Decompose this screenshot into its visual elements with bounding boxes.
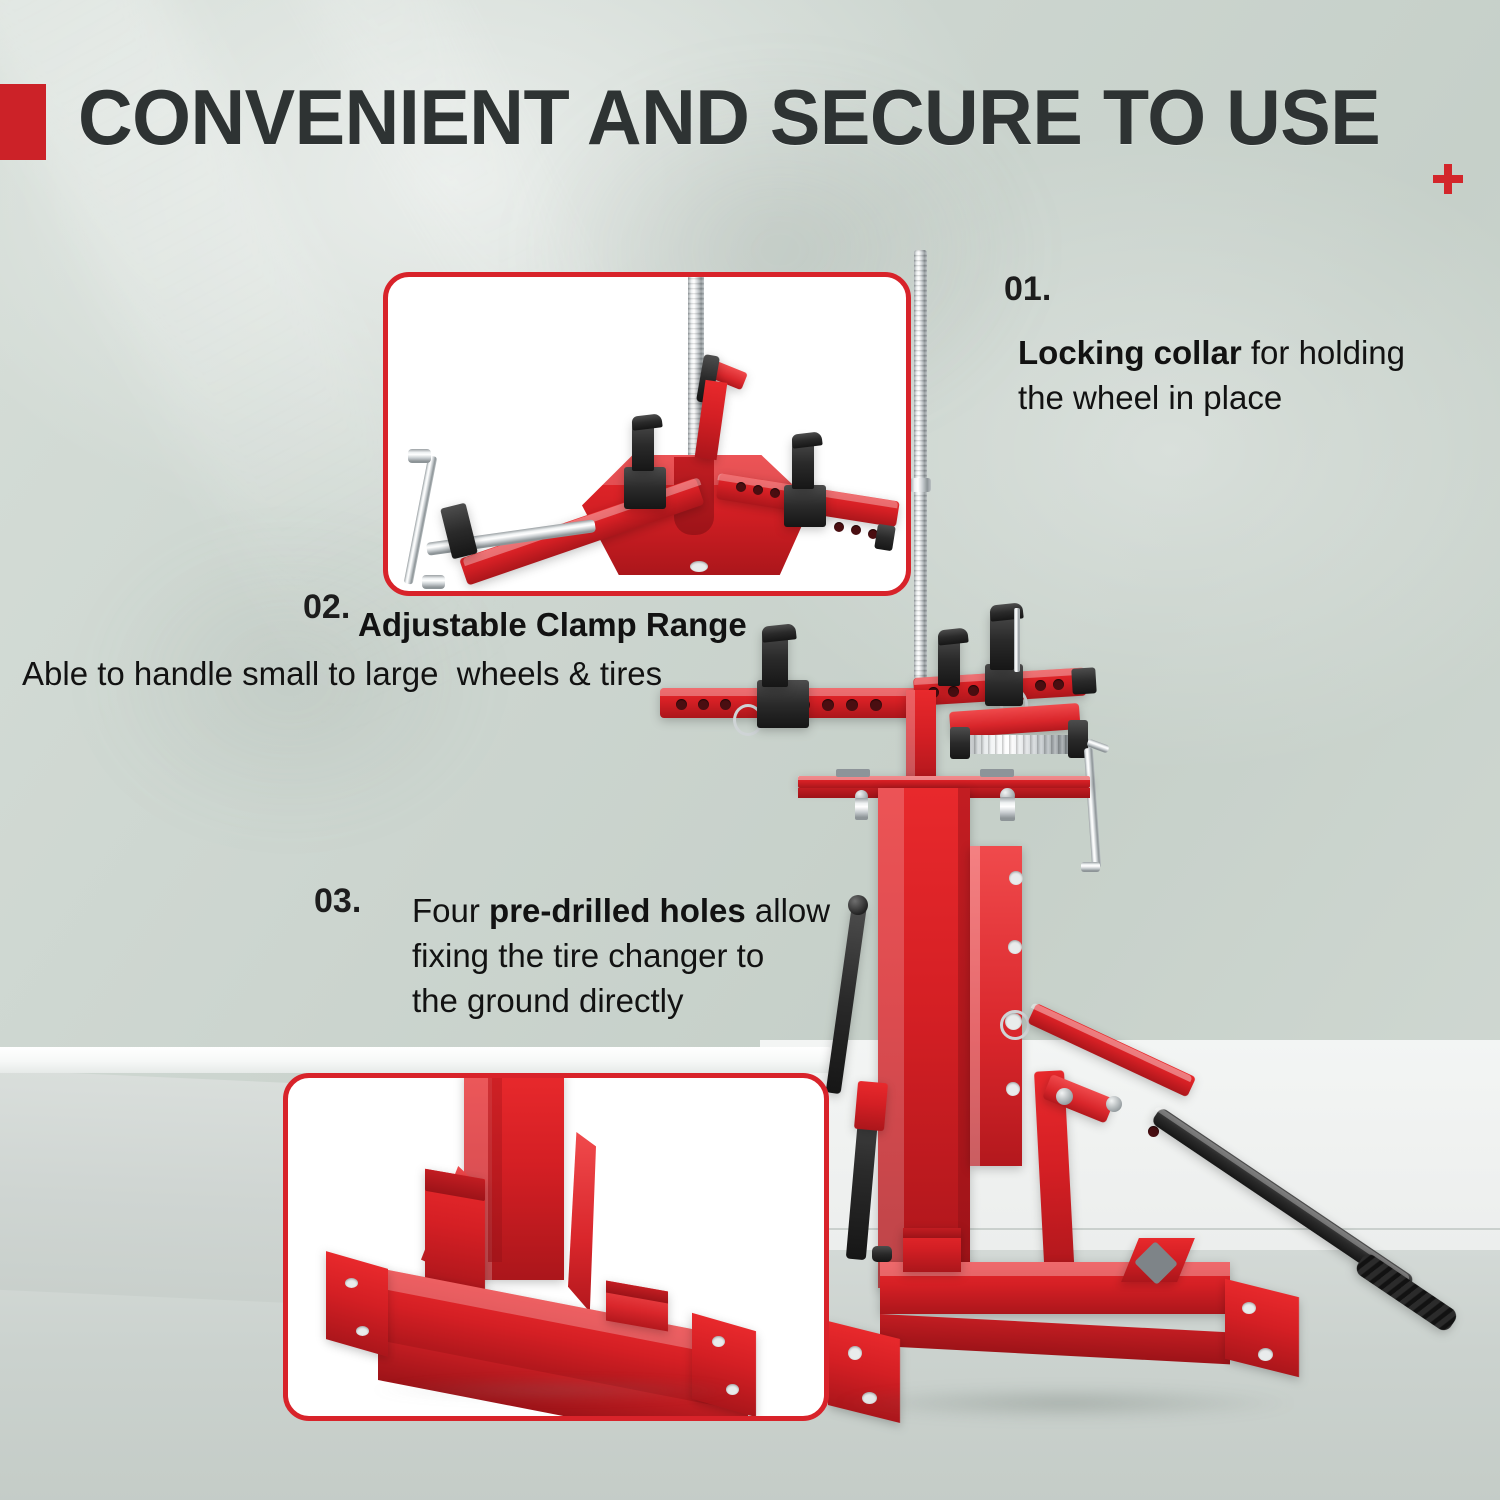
clamp-hole — [698, 699, 709, 710]
inset-mount-tab-right — [692, 1313, 756, 1417]
base-mount-hole — [1258, 1348, 1273, 1361]
clamp-hook-inner-tip — [937, 627, 968, 645]
callout-03-text: Four pre-drilled holes allow fixing the … — [412, 888, 862, 1023]
plus-marker-icon — [1433, 164, 1463, 194]
callout-01-text: Locking collar for holding the wheel in … — [1018, 330, 1448, 420]
title-accent-square — [0, 84, 46, 160]
callout-02-heading: Adjustable Clamp Range — [358, 604, 747, 646]
main-column-shadow — [958, 788, 970, 1288]
callout-01-number-label: 01. — [1004, 270, 1051, 308]
clamp-arm-right-end-cap — [1071, 667, 1097, 694]
callout-03-line3: the ground directly — [412, 982, 684, 1019]
inset-mount-hole — [345, 1278, 358, 1288]
inset-mount-hole — [356, 1326, 369, 1336]
callout-02-number-label: 02. — [303, 588, 350, 626]
inset-clamp-hole — [736, 482, 746, 492]
callout-03-number-label: 03. — [314, 882, 361, 920]
pre-drilled-hole — [1006, 1082, 1020, 1096]
callout-03-post: allow — [746, 892, 830, 929]
pre-drilled-plate-highlight — [970, 846, 980, 1166]
inset-adjust-screw-head — [408, 449, 431, 463]
mast-highlight — [906, 690, 915, 790]
inset-mount-tab-left — [326, 1251, 388, 1357]
inset-clamp-hole — [770, 488, 780, 498]
plate-lock-ring — [1000, 1010, 1030, 1040]
linkage-hole — [1148, 1126, 1159, 1137]
page-title: CONVENIENT AND SECURE TO USE — [78, 74, 1397, 160]
inset-clamp-arm-detail — [383, 272, 911, 596]
pre-drilled-hole — [1008, 940, 1022, 954]
inset-clamp-hole — [851, 525, 861, 535]
rod-thread-texture — [914, 250, 927, 680]
inset-ground-shadow — [368, 1378, 748, 1402]
inset-hook-left-tip — [631, 413, 662, 431]
callout-03-line2: fixing the tire changer to — [412, 937, 764, 974]
clamp-hook-right-rod — [1014, 608, 1020, 672]
clamp-hole — [822, 699, 834, 711]
infographic-stage: CONVENIENT AND SECURE TO USE — [0, 0, 1500, 1500]
inset-jaw-block-left — [624, 467, 666, 509]
inset-plate-hole — [690, 561, 708, 572]
callout-02-number: 02. — [303, 590, 350, 624]
pre-drilled-hole — [1009, 871, 1023, 885]
clamp-hole — [1035, 680, 1046, 691]
callout-03-pre: Four — [412, 892, 489, 929]
clamp-hole — [870, 699, 882, 711]
inset-arm-right-cap — [874, 524, 896, 552]
inset-clamp-hole — [834, 522, 844, 532]
table-plate-bolt-shaft — [855, 798, 868, 820]
base-socket-opening — [903, 1228, 961, 1238]
clamp-hole — [720, 699, 731, 710]
clamp-hole — [968, 685, 979, 696]
callout-01-number: 01. — [1004, 272, 1051, 306]
callout-03-bold: pre-drilled holes — [489, 892, 746, 929]
clamp-jaw-block-left — [757, 680, 809, 728]
clamp-hole — [676, 699, 687, 710]
rod-collar-step — [910, 478, 931, 492]
inset-hook-right-tip — [791, 431, 822, 449]
inset-gusset-right — [568, 1132, 596, 1312]
callout-01-heading: Locking collar — [1018, 334, 1242, 371]
gas-strut-red-collar — [854, 1081, 888, 1131]
product-ground-shadow — [830, 1386, 1300, 1420]
table-plate-washer — [980, 769, 1014, 777]
linkage-bolt — [1056, 1088, 1073, 1105]
floor-seam-line — [760, 1228, 1500, 1230]
screw-nut-left — [950, 727, 970, 759]
callout-03-number: 03. — [314, 884, 361, 918]
base-mount-hole — [848, 1346, 862, 1360]
linkage-bolt — [1106, 1096, 1122, 1112]
inset-jaw-block-right — [784, 485, 826, 527]
inset-adjust-screw — [404, 455, 438, 584]
clamp-hole — [948, 686, 959, 697]
inset-column-seam — [488, 1073, 502, 1262]
inset-clamp-hole — [753, 485, 763, 495]
table-top-edge — [0, 1047, 840, 1073]
clamp-hole — [846, 699, 858, 711]
callout-02-subtext: Able to handle small to large wheels & t… — [22, 653, 662, 695]
table-plate-washer — [836, 769, 870, 777]
screw-handle-end — [1081, 862, 1100, 872]
gas-strut-foot — [872, 1246, 892, 1262]
clamp-hole — [1053, 679, 1064, 690]
callout-01-line2: the wheel in place — [1018, 379, 1282, 416]
base-mount-hole — [1242, 1302, 1256, 1314]
table-plate-bolt-shaft — [1000, 797, 1015, 821]
inset-mount-hole — [712, 1336, 725, 1347]
inset-adjust-screw-foot — [422, 575, 445, 589]
inset-base-plate-detail — [283, 1073, 829, 1421]
callout-01-rest: for holding — [1242, 334, 1405, 371]
main-column-highlight — [878, 788, 904, 1288]
